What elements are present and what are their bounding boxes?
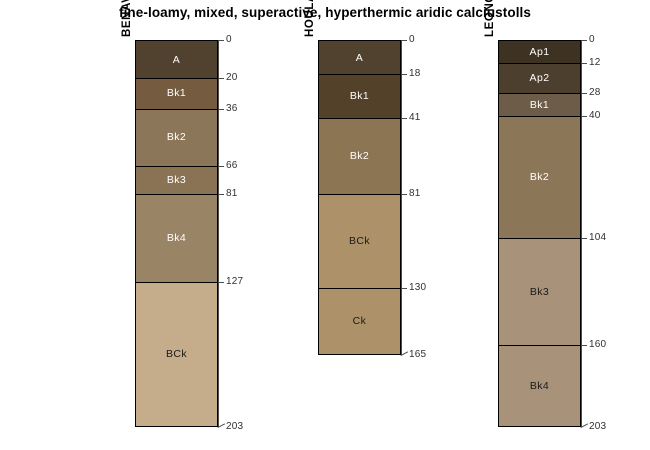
depth-tick — [218, 109, 224, 110]
depth-tick — [218, 40, 224, 41]
horizon-divider — [498, 345, 581, 346]
horizon-label: Ap2 — [530, 72, 550, 84]
depth-tick-label: 36 — [226, 103, 238, 114]
depth-tick — [401, 118, 407, 119]
depth-tick — [581, 345, 587, 346]
soil-horizon: Bk4 — [135, 194, 218, 282]
horizon-label: Bk3 — [530, 286, 549, 298]
page-title: fine-loamy, mixed, superactive, hyperthe… — [0, 5, 650, 20]
horizon-divider — [135, 166, 218, 167]
depth-tick — [218, 282, 224, 283]
soil-horizon: A — [135, 40, 218, 78]
soil-horizon: Bk4 — [498, 345, 581, 427]
horizon-divider — [318, 194, 401, 195]
horizon-label: Ap1 — [530, 46, 550, 58]
horizon-divider — [498, 238, 581, 239]
soil-horizon: Ap2 — [498, 63, 581, 94]
horizon-divider — [318, 118, 401, 119]
soil-horizon: Bk2 — [318, 118, 401, 194]
horizon-divider — [498, 93, 581, 94]
horizon-divider — [135, 282, 218, 283]
horizon-label: Bk1 — [350, 90, 369, 102]
depth-tick-label: 104 — [589, 232, 606, 243]
depth-tick — [401, 288, 407, 289]
depth-tick-label: 0 — [226, 34, 232, 45]
depth-tick-label: 40 — [589, 110, 601, 121]
depth-axis-line — [401, 40, 402, 355]
horizon-divider — [135, 109, 218, 110]
depth-tick — [581, 93, 587, 94]
depth-tick-label: 203 — [589, 421, 606, 432]
soil-horizon: Bk3 — [498, 238, 581, 345]
profile-name-label: BENAVIDES — [121, 0, 133, 37]
horizon-label: Bk4 — [530, 380, 549, 392]
horizon-divider — [498, 63, 581, 64]
horizon-label: A — [356, 52, 363, 64]
soil-horizon: BCk — [135, 282, 218, 427]
horizon-divider — [135, 194, 218, 195]
depth-tick — [401, 194, 407, 195]
soil-horizon: Ck — [318, 288, 401, 355]
soil-horizon: Ap1 — [498, 40, 581, 63]
profile-name-label: HOULA — [304, 0, 316, 37]
horizon-label: Bk1 — [530, 99, 549, 111]
depth-tick-label: 28 — [589, 87, 601, 98]
depth-tick-label: 20 — [226, 72, 238, 83]
horizon-label: A — [173, 54, 180, 66]
depth-tick-label: 130 — [409, 282, 426, 293]
depth-tick-label: 12 — [589, 57, 601, 68]
depth-tick — [581, 238, 587, 239]
depth-tick — [581, 40, 587, 41]
depth-tick-label: 81 — [409, 188, 421, 199]
horizon-label: Bk2 — [530, 171, 549, 183]
depth-tick-label: 81 — [226, 188, 238, 199]
soil-horizon: Bk1 — [318, 74, 401, 118]
soil-horizon: BCk — [318, 194, 401, 287]
horizon-label: Bk2 — [167, 131, 186, 143]
depth-tick — [218, 194, 224, 195]
depth-tick — [581, 63, 587, 64]
horizon-divider — [135, 78, 218, 79]
horizon-divider — [498, 116, 581, 117]
soil-horizon: Bk2 — [498, 116, 581, 238]
depth-tick-label: 0 — [409, 34, 415, 45]
horizon-label: Bk4 — [167, 232, 186, 244]
depth-tick — [581, 116, 587, 117]
horizon-divider — [318, 74, 401, 75]
soil-horizon: Bk1 — [135, 78, 218, 109]
depth-axis-line — [218, 40, 219, 427]
depth-tick-label: 160 — [589, 339, 606, 350]
horizon-label: Bk2 — [350, 150, 369, 162]
depth-tick — [401, 40, 407, 41]
depth-tick-label: 18 — [409, 68, 421, 79]
horizon-label: BCk — [166, 348, 187, 360]
depth-axis-line — [581, 40, 582, 427]
soil-horizon: A — [318, 40, 401, 74]
horizon-divider — [318, 288, 401, 289]
depth-tick — [218, 78, 224, 79]
profile-name-label: LEONCITA — [484, 0, 496, 37]
depth-tick-label: 66 — [226, 160, 238, 171]
soil-horizon: Bk2 — [135, 109, 218, 166]
horizon-label: Bk1 — [167, 87, 186, 99]
horizon-label: Bk3 — [167, 174, 186, 186]
depth-tick-label: 203 — [226, 421, 243, 432]
soil-horizon: Bk1 — [498, 93, 581, 116]
depth-tick-label: 127 — [226, 276, 243, 287]
depth-tick — [401, 74, 407, 75]
depth-tick — [218, 166, 224, 167]
depth-tick-label: 165 — [409, 349, 426, 360]
depth-tick-label: 0 — [589, 34, 595, 45]
depth-tick-label: 41 — [409, 112, 421, 123]
horizon-label: BCk — [349, 235, 370, 247]
soil-horizon: Bk3 — [135, 166, 218, 195]
horizon-label: Ck — [353, 315, 367, 327]
